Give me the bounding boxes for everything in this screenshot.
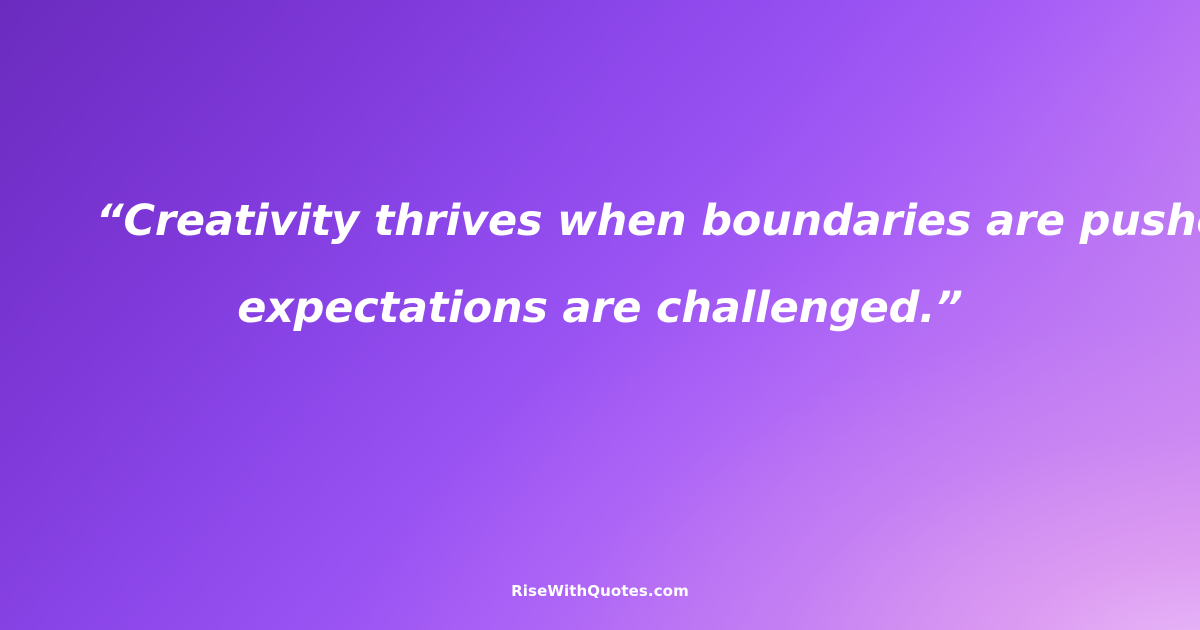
- quote-text-block: “Creativity thrives when boundaries are …: [0, 178, 1200, 352]
- quote-card: “Creativity thrives when boundaries are …: [0, 0, 1200, 630]
- quote-line-1: “Creativity thrives when boundaries are …: [96, 178, 1104, 265]
- quote-line-2: expectations are challenged.”: [96, 265, 1104, 352]
- site-credit-label: RiseWithQuotes.com: [0, 582, 1200, 600]
